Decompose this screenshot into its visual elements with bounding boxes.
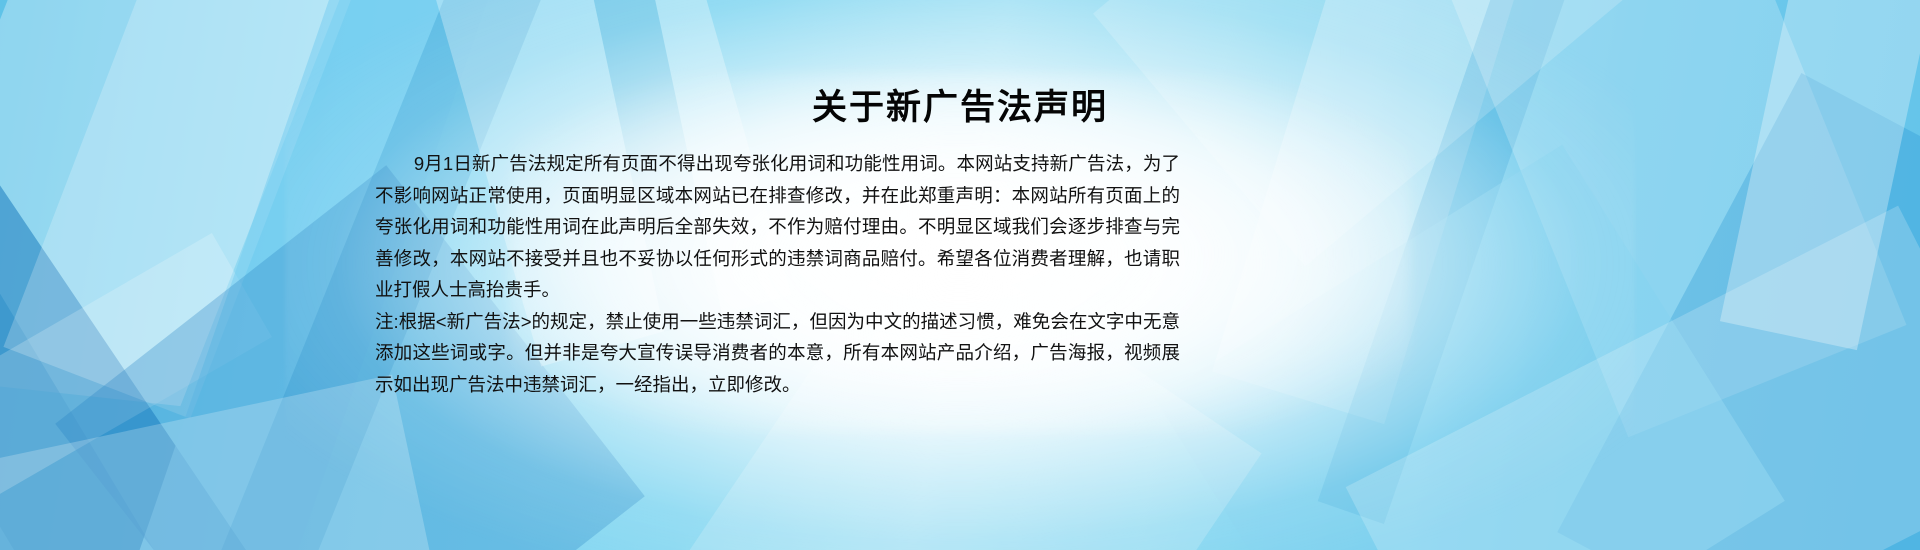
banner-content: 关于新广告法声明 9月1日新广告法规定所有页面不得出现夸张化用词和功能性用词。本… — [0, 0, 1920, 550]
page-title: 关于新广告法声明 — [0, 86, 1920, 130]
statement-paragraph-1: 9月1日新广告法规定所有页面不得出现夸张化用词和功能性用词。本网站支持新广告法，… — [375, 148, 1180, 306]
statement-paragraph-2: 注:根据<新广告法>的规定，禁止使用一些违禁词汇，但因为中文的描述习惯，难免会在… — [375, 306, 1180, 401]
statement-body: 9月1日新广告法规定所有页面不得出现夸张化用词和功能性用词。本网站支持新广告法，… — [375, 148, 1180, 400]
ad-law-statement-banner: 关于新广告法声明 9月1日新广告法规定所有页面不得出现夸张化用词和功能性用词。本… — [0, 0, 1920, 550]
